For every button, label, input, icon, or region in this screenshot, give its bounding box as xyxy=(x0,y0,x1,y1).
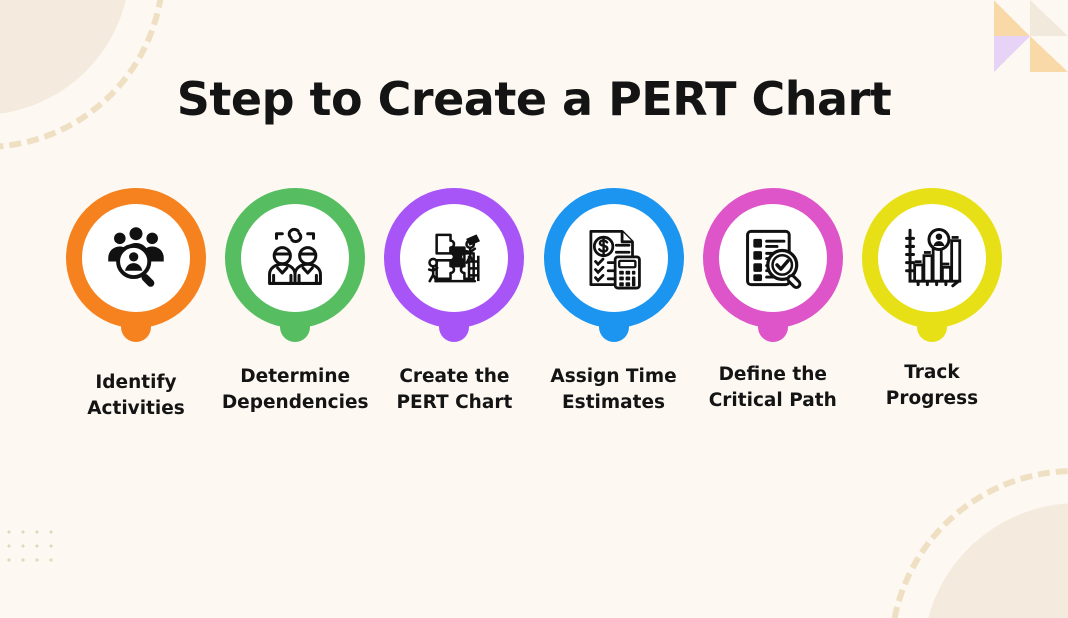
step-item-create-pert-chart[interactable]: Create the PERT Chart xyxy=(378,188,530,417)
puzzle-assembly-icon xyxy=(417,221,491,295)
step-label: Determine Dependencies xyxy=(222,364,369,417)
icon-ring xyxy=(66,188,206,328)
invoice-calculator-icon xyxy=(577,221,651,295)
bottom-right-blob xyxy=(923,503,1068,618)
icon-ring xyxy=(225,188,365,328)
step-item-define-critical-path[interactable]: Define the Critical Path xyxy=(697,188,849,415)
top-right-triangle-grid xyxy=(994,0,1068,72)
pin-marker xyxy=(225,188,365,348)
bottom-right-dashed-arc xyxy=(888,468,1068,618)
triangle-tile xyxy=(1030,36,1068,72)
step-label: Assign Time Estimates xyxy=(550,364,676,417)
icon-ring xyxy=(862,188,1002,328)
step-label: Create the PERT Chart xyxy=(396,364,512,417)
two-people-link-icon xyxy=(258,221,332,295)
pin-marker xyxy=(66,188,206,348)
bar-chart-person-icon xyxy=(895,221,969,295)
pin-marker xyxy=(544,188,684,348)
steps-row: Identify Activities xyxy=(60,188,1008,423)
bottom-left-dot-grid xyxy=(0,523,58,567)
icon-ring xyxy=(703,188,843,328)
step-label: Define the Critical Path xyxy=(709,362,837,415)
step-item-determine-dependencies[interactable]: Determine Dependencies xyxy=(219,188,371,417)
step-item-track-progress[interactable]: Track Progress xyxy=(856,188,1008,413)
people-search-icon xyxy=(99,221,173,295)
step-label: Identify Activities xyxy=(87,370,185,423)
pin-marker xyxy=(862,188,1002,348)
icon-ring xyxy=(544,188,684,328)
page-title: Step to Create a PERT Chart xyxy=(0,72,1068,126)
pin-marker xyxy=(384,188,524,348)
step-item-assign-time-estimates[interactable]: Assign Time Estimates xyxy=(538,188,690,417)
checklist-magnifier-icon xyxy=(736,221,810,295)
pin-marker xyxy=(703,188,843,348)
triangle-tile xyxy=(994,0,1030,36)
step-label: Track Progress xyxy=(886,360,978,413)
icon-ring xyxy=(384,188,524,328)
triangle-tile xyxy=(994,36,1030,72)
triangle-tile xyxy=(1030,0,1068,36)
step-item-identify-activities[interactable]: Identify Activities xyxy=(60,188,212,423)
